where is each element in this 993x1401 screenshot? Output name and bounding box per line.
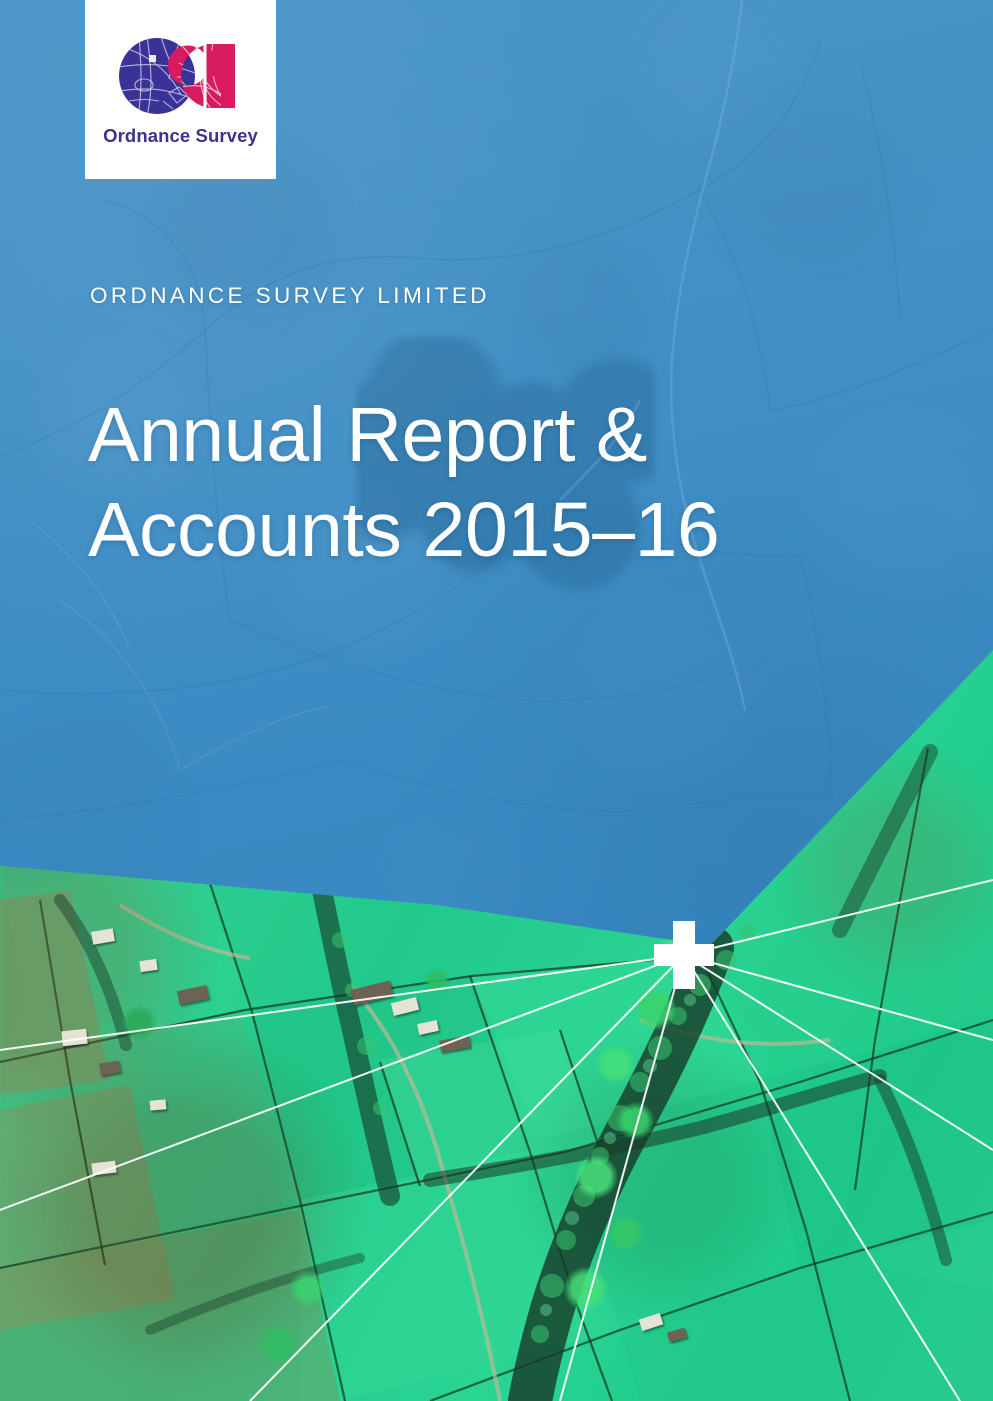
publisher-name: ORDNANCE SURVEY LIMITED [90,283,490,309]
ordnance-survey-logo-plate: Ordnance Survey [85,0,276,179]
survey-control-point-marker [654,921,714,989]
ordnance-survey-wordmark: Ordnance Survey [103,125,258,147]
cross-vertical-bar [673,921,695,989]
ordnance-survey-logo-icon [117,33,245,119]
page-title: Annual Report & Accounts 2015–16 [88,388,848,578]
report-cover: Ordnance Survey ORDNANCE SURVEY LIMITED … [0,0,993,1401]
logo-o-building-block [149,55,156,62]
page-title-line-2: Accounts 2015–16 [88,483,848,578]
page-title-line-1: Annual Report & [88,388,848,483]
